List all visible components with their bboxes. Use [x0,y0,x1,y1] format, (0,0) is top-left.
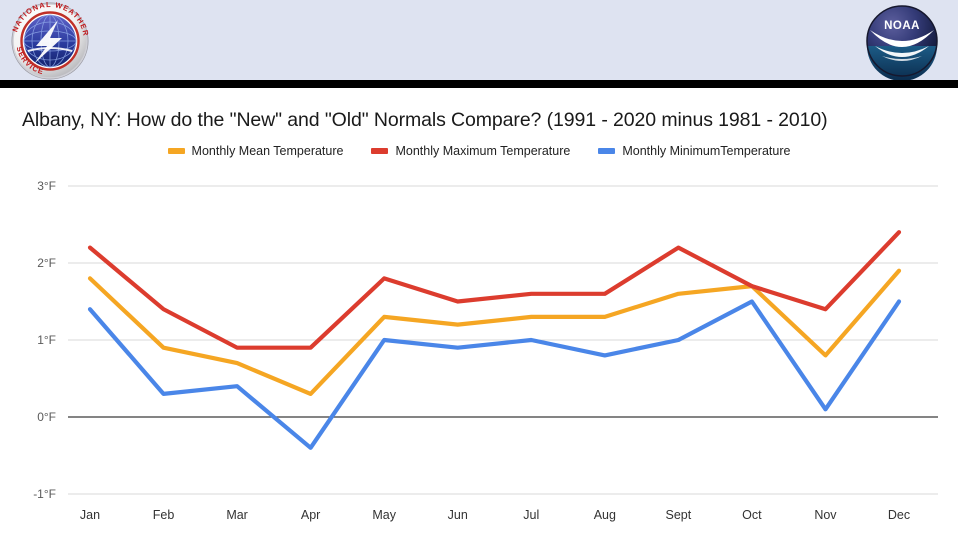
x-axis-tick-label: May [354,508,414,522]
x-axis-tick-label: Oct [722,508,782,522]
x-axis-tick-label: Jul [501,508,561,522]
svg-text:NOAA: NOAA [884,20,920,32]
noaa-logo: NOAA [862,2,942,80]
x-axis-tick-label: Jan [60,508,120,522]
series-line-monthly-maximum-temperature[interactable] [90,232,899,348]
y-axis-tick-label: 0°F [10,410,56,424]
y-axis-tick-label: 3°F [10,179,56,193]
x-axis-tick-label: Sept [648,508,708,522]
header-divider [0,80,958,88]
plot-svg [0,88,958,537]
x-axis-tick-label: Mar [207,508,267,522]
y-axis-tick-label: -1°F [10,487,56,501]
y-axis-tick-label: 1°F [10,333,56,347]
x-axis-tick-label: Aug [575,508,635,522]
chart-panel: Albany, NY: How do the "New" and "Old" N… [0,88,958,537]
x-axis-tick-label: Jun [428,508,488,522]
x-axis-tick-label: Feb [134,508,194,522]
x-axis-tick-label: Apr [281,508,341,522]
series-line-monthly-minimumtemperature[interactable] [90,302,899,448]
plot-area: -1°F0°F1°F2°F3°FJanFebMarAprMayJunJulAug… [0,88,958,537]
national-weather-service-logo: NATIONAL WEATHER SERVICE [6,2,94,80]
y-axis-tick-label: 2°F [10,256,56,270]
x-axis-tick-label: Dec [869,508,929,522]
x-axis-tick-label: Nov [795,508,855,522]
header-band [0,0,958,80]
